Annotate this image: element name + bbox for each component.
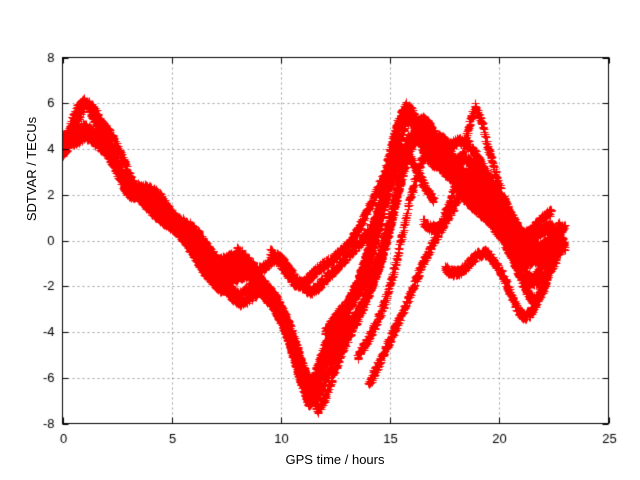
y-axis-label: SDTVAR / TECUs [24,117,39,221]
sdtvar-scatter-plot [0,0,640,480]
y-axis-label-wrapper: SDTVAR / TECUs [23,69,41,269]
x-axis-label: GPS time / hours [62,452,608,467]
chart-page: Day 202 of 2025, Sidereal Day-to-day VTE… [0,0,640,480]
